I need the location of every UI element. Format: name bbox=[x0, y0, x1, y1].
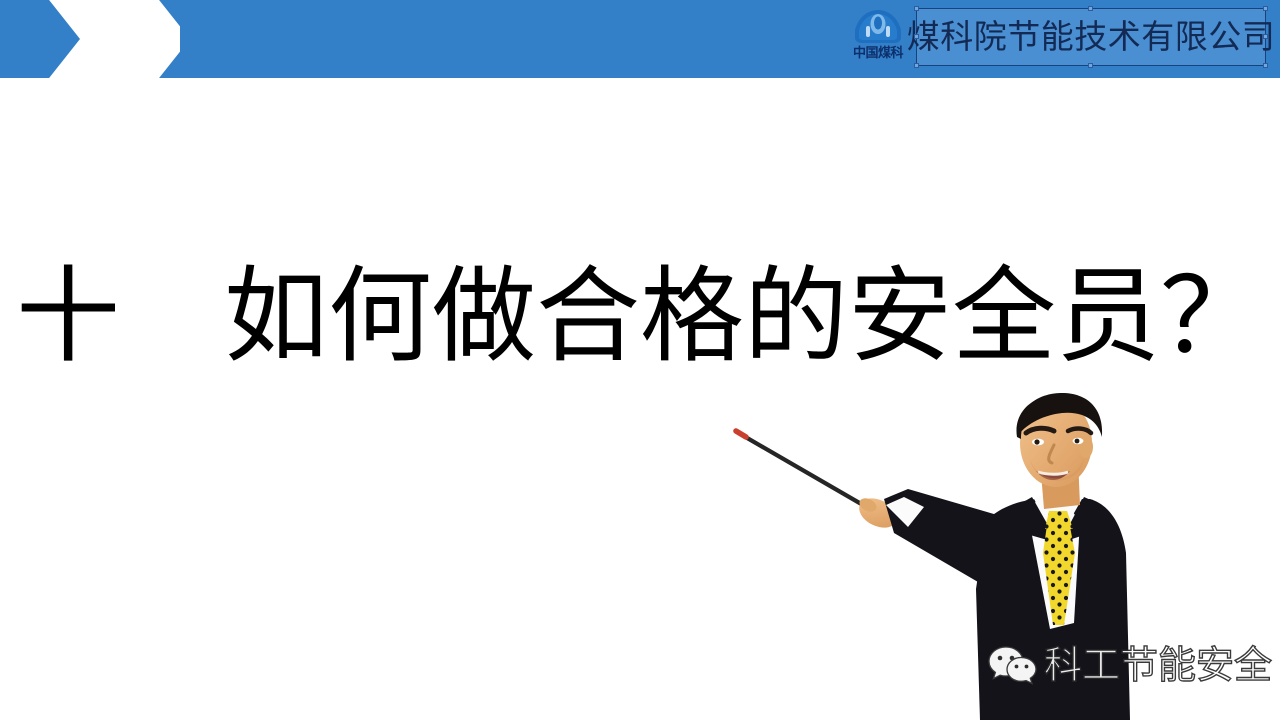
resize-handle-bottom-right[interactable] bbox=[1263, 63, 1268, 68]
resize-handle-top-middle[interactable] bbox=[1088, 6, 1093, 11]
presentation-slide: 中国煤科 煤科院节能技术有限公司 十 如何做合格的安全员？ bbox=[0, 0, 1280, 720]
china-coal-science-logo-icon bbox=[849, 8, 907, 48]
double-chevron-right-icon bbox=[30, 0, 180, 78]
wechat-watermark: 科工节能安全 bbox=[988, 638, 1268, 692]
resize-handle-bottom-middle[interactable] bbox=[1088, 63, 1093, 68]
slide-header-band: 中国煤科 煤科院节能技术有限公司 bbox=[0, 0, 1280, 78]
slide-title: 十 如何做合格的安全员？ bbox=[0, 255, 1280, 377]
company-logo: 中国煤科 bbox=[841, 8, 915, 70]
company-name-label: 煤科院节能技术有限公司 bbox=[917, 9, 1265, 65]
logo-wordmark: 中国煤科 bbox=[841, 46, 915, 62]
resize-handle-top-right[interactable] bbox=[1263, 6, 1268, 11]
resize-handle-bottom-left[interactable] bbox=[914, 63, 919, 68]
wechat-account-label: 科工节能安全 bbox=[1044, 643, 1272, 687]
pointer-stick bbox=[736, 431, 863, 505]
resize-handle-middle-right[interactable] bbox=[1263, 34, 1268, 39]
resize-handle-middle-left[interactable] bbox=[914, 34, 919, 39]
wechat-icon bbox=[988, 644, 1038, 686]
resize-handle-top-left[interactable] bbox=[914, 6, 919, 11]
company-name-textbox[interactable]: 煤科院节能技术有限公司 bbox=[916, 8, 1266, 66]
